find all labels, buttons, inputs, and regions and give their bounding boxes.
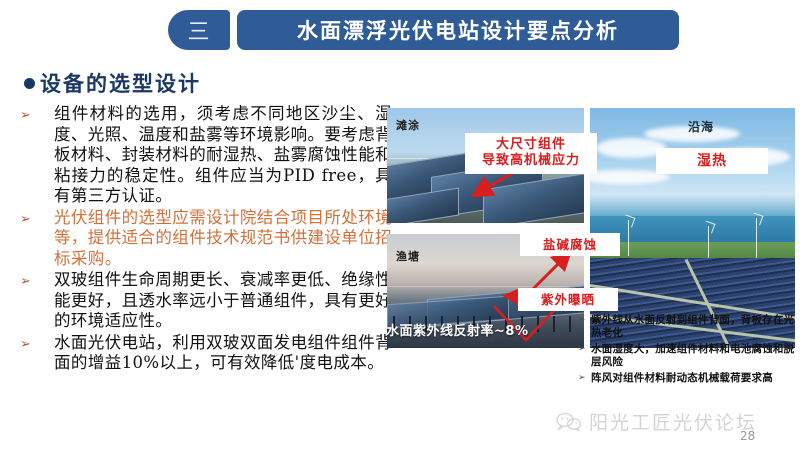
arrow-bullet-icon: ➢ [578, 343, 591, 356]
arrow-bullet-icon: ➢ [14, 333, 54, 355]
list-item: ➢ 双玻组件生命周期更长、衰减率更低、绝缘性能更好，且透水率远小于普通组件，具有… [14, 270, 392, 332]
uv-reflectance-label: 水面紫外线反射率~8% [386, 320, 528, 339]
bullet-text: 组件材料的选用，须考虑不同地区沙尘、湿度、光照、温度和盐雾等环境影响。要考虑背板… [54, 104, 392, 207]
slide-title-bar: 三 水面漂浮光伏电站设计要点分析 [168, 10, 679, 50]
list-item: ➢ 水面光伏电站，利用双玻双面发电组件组件背面的增益10%以上，可有效降低'度电… [14, 333, 392, 374]
section-heading-label: 设备的选型设计 [40, 68, 201, 98]
callout-uv-exposure: 紫外曝晒 [518, 288, 618, 311]
callout-big-size-line1: 大尺寸组件 [471, 137, 591, 153]
notes-list: ➢ 紫外线从水面反射到组件背面，背板存在光热老化 ➢ 水面湿度大，加速组件材料和… [578, 314, 796, 388]
watermark: 阳光工匠光伏论坛 [556, 408, 757, 435]
note-text: 紫外线从水面反射到组件背面，背板存在光热老化 [591, 314, 796, 340]
section-heading: 设备的选型设计 [24, 68, 201, 98]
arrow-bullet-icon: ➢ [14, 104, 54, 126]
page-title: 水面漂浮光伏电站设计要点分析 [237, 10, 679, 50]
slide-canvas: 三 水面漂浮光伏电站设计要点分析 设备的选型设计 ➢ 组件材料的选用，须考虑不同… [0, 0, 800, 450]
callout-big-size: 大尺寸组件 导致高机械应力 [465, 133, 597, 174]
list-item: ➢ 组件材料的选用，须考虑不同地区沙尘、湿度、光照、温度和盐雾等环境影响。要考虑… [14, 104, 392, 207]
bullet-text: 水面光伏电站，利用双玻双面发电组件组件背面的增益10%以上，可有效降低'度电成本… [54, 333, 392, 374]
note-text: 水面湿度大，加速组件材料和电池腐蚀和脱层风险 [591, 343, 796, 369]
callout-salt-corrosion: 盐碱腐蚀 [520, 233, 620, 256]
photo-label-tidal-flat: 滩涂 [396, 117, 420, 133]
section-number-badge: 三 [168, 10, 230, 50]
photo-label-fish-pond: 渔塘 [396, 248, 420, 264]
list-item: ➢ 光伏组件的选型应需设计院结合项目所处环境等，提供适合的组件技术规范书供建设单… [14, 208, 392, 270]
bullet-list: ➢ 组件材料的选用，须考虑不同地区沙尘、湿度、光照、温度和盐雾等环境影响。要考虑… [14, 104, 392, 375]
photo-coastal [590, 108, 795, 348]
photo-label-coastal: 沿海 [688, 118, 714, 135]
list-item: ➢ 水面湿度大，加速组件材料和电池腐蚀和脱层风险 [578, 343, 796, 369]
callout-big-size-line2: 导致高机械应力 [471, 153, 591, 169]
page-number: 28 [740, 429, 755, 443]
bullet-text: 双玻组件生命周期更长、衰减率更低、绝缘性能更好，且透水率远小于普通组件，具有更好… [54, 270, 392, 332]
arrow-bullet-icon: ➢ [14, 270, 54, 292]
watermark-text: 阳光工匠光伏论坛 [589, 408, 757, 435]
arrow-bullet-icon: ➢ [578, 314, 591, 327]
note-text: 阵风对组件材料耐动态机械载荷要求高 [591, 372, 796, 385]
list-item: ➢ 阵风对组件材料耐动态机械载荷要求高 [578, 372, 796, 385]
bullet-text: 光伏组件的选型应需设计院结合项目所处环境等，提供适合的组件技术规范书供建设单位招… [54, 208, 392, 270]
arrow-bullet-icon: ➢ [14, 208, 54, 230]
arrow-bullet-icon: ➢ [578, 372, 591, 385]
bullet-dot-icon [24, 78, 35, 89]
list-item: ➢ 紫外线从水面反射到组件背面，背板存在光热老化 [578, 314, 796, 340]
wechat-icon [556, 412, 582, 432]
callout-humid-heat: 湿热 [656, 148, 768, 174]
